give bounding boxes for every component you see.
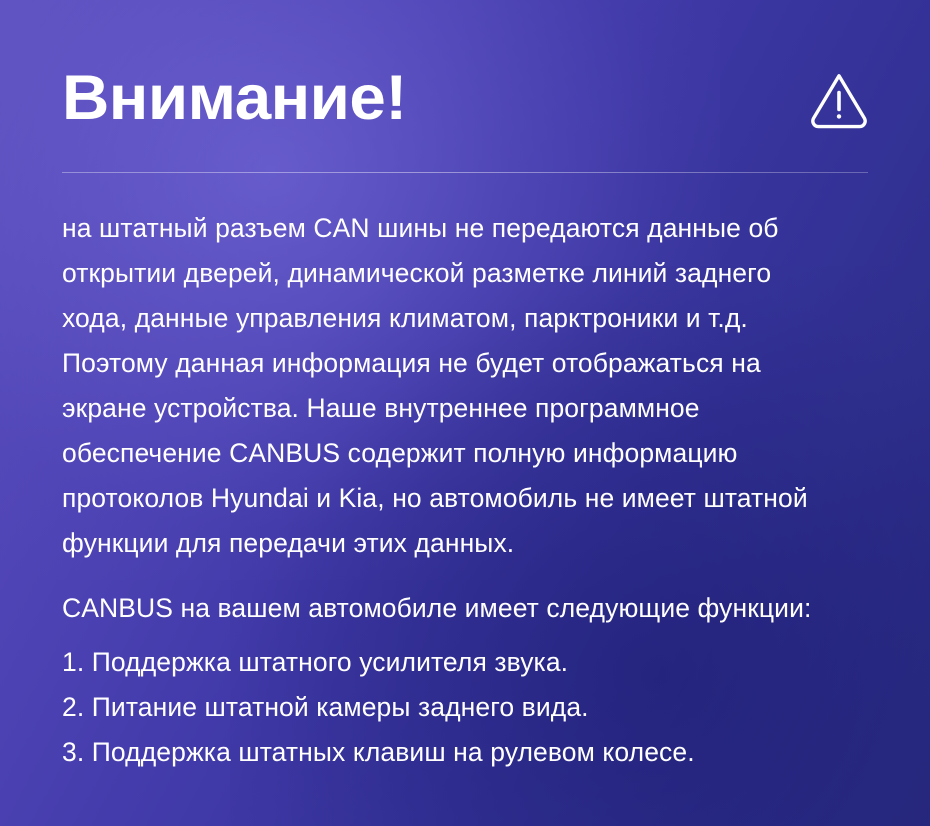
feature-list-item: 3. Поддержка штатных клавиш на рулевом к… [62, 730, 880, 775]
page-title: Внимание! [62, 67, 407, 130]
poster-header: Внимание! [62, 46, 868, 150]
feature-item-number: 3. [62, 730, 92, 775]
feature-item-label: Питание штатной камеры заднего вида. [92, 685, 589, 730]
body-line: Поэтому данная информация не будет отобр… [62, 341, 880, 386]
body-line: на штатный разъем CAN шины не передаются… [62, 206, 880, 251]
body-line: функции для передачи этих данных. [62, 521, 880, 566]
warning-notice-poster: Внимание! на штатный разъем CAN шины не … [0, 0, 930, 826]
feature-item-number: 1. [62, 640, 92, 685]
body-line: открытии дверей, динамической разметке л… [62, 251, 880, 296]
features-intro-text: CANBUS на вашем автомобиле имеет следующ… [62, 586, 880, 631]
poster-content: Внимание! на штатный разъем CAN шины не … [0, 0, 930, 826]
warning-body-text: на штатный разъем CAN шины не передаются… [62, 206, 880, 566]
body-line: протоколов Hyundai и Kia, но автомобиль … [62, 476, 880, 521]
header-divider [62, 172, 868, 173]
body-line: экране устройства. Наше внутреннее прогр… [62, 386, 880, 431]
feature-item-number: 2. [62, 685, 92, 730]
feature-item-label: Поддержка штатного усилителя звука. [92, 640, 568, 685]
warning-triangle-icon [808, 68, 870, 130]
feature-list-item: 1. Поддержка штатного усилителя звука. [62, 640, 880, 685]
feature-item-label: Поддержка штатных клавиш на рулевом коле… [92, 730, 695, 775]
feature-list-item: 2. Питание штатной камеры заднего вида. [62, 685, 880, 730]
features-list-section: CANBUS на вашем автомобиле имеет следующ… [62, 586, 880, 775]
body-line: обеспечение CANBUS содержит полную инфор… [62, 431, 880, 476]
body-line: хода, данные управления климатом, парктр… [62, 296, 880, 341]
